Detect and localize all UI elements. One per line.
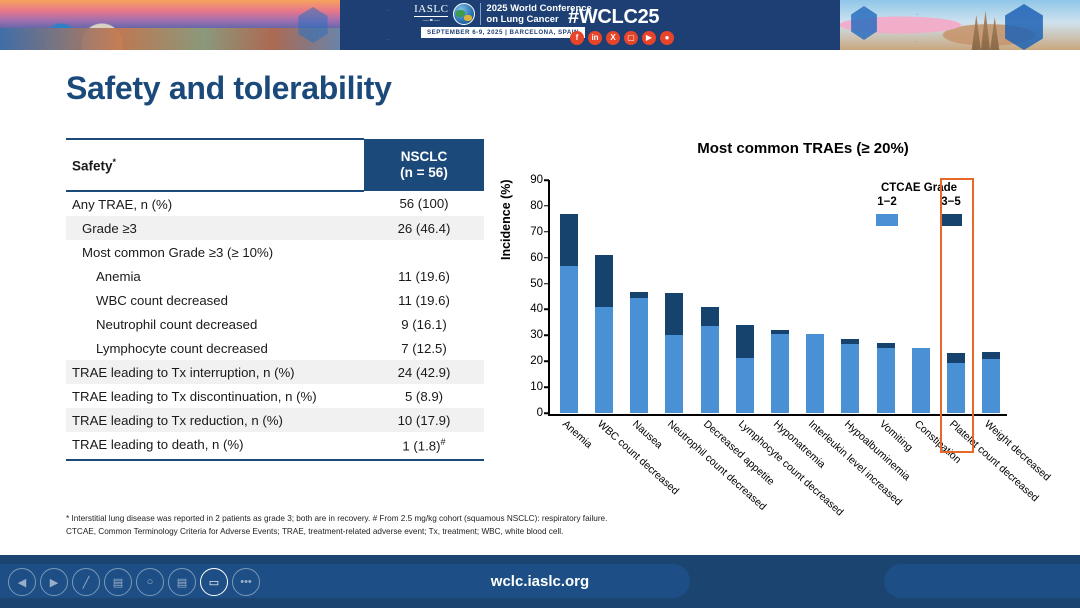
safety-table-wrapper: Safety* NSCLC (n = 56) Any TRAE, n (%)56… xyxy=(66,138,484,461)
table-row: WBC count decreased11 (19.6) xyxy=(66,288,484,312)
chart-y-tick-label: 0 xyxy=(537,407,543,419)
chart-bar-segment-grade-1-2 xyxy=(841,344,859,413)
table-cell-value xyxy=(364,240,484,264)
youtube-icon[interactable]: ▶ xyxy=(642,31,656,45)
table-cell-value: 10 (17.9) xyxy=(364,408,484,432)
footer-url: wclc.iaslc.org xyxy=(0,555,1080,608)
footnote-marker: # xyxy=(441,437,446,447)
table-body: Any TRAE, n (%)56 (100)Grade ≥326 (46.4)… xyxy=(66,191,484,460)
table-cell-value: 7 (12.5) xyxy=(364,336,484,360)
chart-y-tick-label: 90 xyxy=(530,174,543,186)
table-row: Any TRAE, n (%)56 (100) xyxy=(66,191,484,216)
chart-y-axis-label: Incidence (%) xyxy=(499,179,513,260)
chart-y-tick-label: 70 xyxy=(530,226,543,238)
social-media-icons: f in X ▢ ▶ ● xyxy=(570,31,674,45)
table-cell-value: 9 (16.1) xyxy=(364,312,484,336)
table-cell-value: 56 (100) xyxy=(364,191,484,216)
table-row: TRAE leading to death, n (%)1 (1.8)# xyxy=(66,432,484,460)
chart-bar-segment-grade-3-5 xyxy=(665,293,683,336)
chart-bar[interactable] xyxy=(877,343,895,413)
table-cell-label: TRAE leading to Tx interruption, n (%) xyxy=(66,360,364,384)
conference-date-location: SEPTEMBER 6-9, 2025 | BARCELONA, SPAIN xyxy=(421,27,585,38)
chart-y-tick-label: 50 xyxy=(530,278,543,290)
table-cell-label: WBC count decreased xyxy=(66,288,364,312)
table-cell-value: 26 (46.4) xyxy=(364,216,484,240)
table-header-nsclc-line1: NSCLC xyxy=(370,149,478,165)
chart-y-tick-label: 60 xyxy=(530,252,543,264)
chart-y-tick-mark xyxy=(544,257,549,259)
chart-y-tick-mark xyxy=(544,335,549,337)
table-header-nsclc: NSCLC (n = 56) xyxy=(364,139,484,191)
chart-y-tick-label: 20 xyxy=(530,355,543,367)
table-header-safety-label: Safety xyxy=(72,158,113,173)
chart-bar-segment-grade-3-5 xyxy=(701,307,719,326)
table-row: Most common Grade ≥3 (≥ 10%) xyxy=(66,240,484,264)
chart-title: Most common TRAEs (≥ 20%) xyxy=(653,140,953,157)
chart-bar[interactable] xyxy=(982,352,1000,413)
chart-bar[interactable] xyxy=(595,255,613,413)
chart-bar[interactable] xyxy=(736,325,754,413)
wechat-icon[interactable]: ● xyxy=(660,31,674,45)
chart-x-axis-line xyxy=(548,414,1007,416)
iaslc-wordmark: IASLC —⚭— xyxy=(414,4,448,24)
table-row: TRAE leading to Tx reduction, n (%)10 (1… xyxy=(66,408,484,432)
traes-bar-chart: Most common TRAEs (≥ 20%) Incidence (%) … xyxy=(503,130,1023,530)
table-cell-label: Neutrophil count decreased xyxy=(66,312,364,336)
table-cell-value: 11 (19.6) xyxy=(364,264,484,288)
slide-footnotes: * Interstitial lung disease was reported… xyxy=(66,512,1006,538)
legend-entry-grade-1-2: 1−2 xyxy=(860,196,914,226)
instagram-icon[interactable]: ▢ xyxy=(624,31,638,45)
legend-swatch-grade-1-2 xyxy=(876,214,898,226)
chart-y-tick-mark xyxy=(544,179,549,181)
table-cell-value: 5 (8.9) xyxy=(364,384,484,408)
table-cell-label: Lymphocyte count decreased xyxy=(66,336,364,360)
chart-bar[interactable] xyxy=(841,339,859,413)
iaslc-abbr: IASLC xyxy=(414,3,448,15)
chart-y-tick-mark xyxy=(544,386,549,388)
chart-x-tick-label: Anemia xyxy=(560,418,594,451)
table-cell-label: TRAE leading to death, n (%) xyxy=(66,432,364,460)
page-title: Safety and tolerability xyxy=(66,70,392,107)
chart-bar-segment-grade-1-2 xyxy=(560,266,578,413)
chart-y-tick-mark xyxy=(544,309,549,311)
chart-bar[interactable] xyxy=(630,292,648,413)
chart-y-tick-label: 30 xyxy=(530,329,543,341)
legend-label-grade-1-2: 1−2 xyxy=(877,196,897,208)
table-cell-value: 11 (19.6) xyxy=(364,288,484,312)
chart-bar-segment-grade-1-2 xyxy=(877,348,895,413)
chart-bar-segment-grade-3-5 xyxy=(736,325,754,358)
facebook-icon[interactable]: f xyxy=(570,31,584,45)
x-twitter-icon[interactable]: X xyxy=(606,31,620,45)
table-cell-label: TRAE leading to Tx reduction, n (%) xyxy=(66,408,364,432)
table-header-safety: Safety* xyxy=(66,139,364,191)
chart-bar-segment-grade-1-2 xyxy=(701,326,719,413)
chart-bar-segment-grade-3-5 xyxy=(560,214,578,266)
chart-bar-segment-grade-1-2 xyxy=(912,348,930,413)
table-cell-label: Most common Grade ≥3 (≥ 10%) xyxy=(66,240,364,264)
linkedin-icon[interactable]: in xyxy=(588,31,602,45)
chart-bar-segment-grade-1-2 xyxy=(630,298,648,413)
footnote-line-2: CTCAE, Common Terminology Criteria for A… xyxy=(66,525,1006,538)
table-cell-label: TRAE leading to Tx discontinuation, n (%… xyxy=(66,384,364,408)
table-cell-label: Grade ≥3 xyxy=(66,216,364,240)
table-head: Safety* NSCLC (n = 56) xyxy=(66,139,484,191)
chart-bar-segment-grade-1-2 xyxy=(982,359,1000,413)
table-header-safety-footnote-marker: * xyxy=(113,157,117,167)
table-header-row: Safety* NSCLC (n = 56) xyxy=(66,139,484,191)
table-row: Lymphocyte count decreased7 (12.5) xyxy=(66,336,484,360)
chart-bar[interactable] xyxy=(806,334,824,413)
chart-bar-segment-grade-1-2 xyxy=(736,358,754,413)
table-row: TRAE leading to Tx discontinuation, n (%… xyxy=(66,384,484,408)
table-row: Grade ≥326 (46.4) xyxy=(66,216,484,240)
table-cell-value: 1 (1.8)# xyxy=(364,432,484,460)
table-header-nsclc-line2: (n = 56) xyxy=(370,165,478,181)
chart-bar[interactable] xyxy=(665,293,683,413)
chart-y-tick-mark xyxy=(544,360,549,362)
conference-banner: IASLC —⚭— 2025 World Conference on Lung … xyxy=(0,0,1080,50)
chart-y-tick-mark xyxy=(544,205,549,207)
chart-y-tick-label: 10 xyxy=(530,381,543,393)
table-row: Anemia11 (19.6) xyxy=(66,264,484,288)
footnote-line-1: * Interstitial lung disease was reported… xyxy=(66,512,1006,525)
chart-y-tick-mark xyxy=(544,231,549,233)
chart-bar-segment-grade-1-2 xyxy=(771,334,789,413)
chart-bar-segment-grade-1-2 xyxy=(595,307,613,413)
chart-x-tick-label: Hypoalbuminemia xyxy=(842,418,912,483)
chart-y-tick-label: 40 xyxy=(530,303,543,315)
chart-bar[interactable] xyxy=(912,348,930,413)
chart-bar-segment-grade-3-5 xyxy=(595,255,613,307)
iaslc-rule: —⚭— xyxy=(414,16,448,24)
chart-highlight-box xyxy=(940,178,974,453)
slide-content: Safety and tolerability Safety* NSCLC (n… xyxy=(0,50,1080,555)
logo-divider xyxy=(480,3,481,25)
globe-icon xyxy=(453,3,475,25)
chart-y-tick-label: 80 xyxy=(530,200,543,212)
chart-y-tick-mark xyxy=(544,283,549,285)
banner-photo-barcelona-skyline xyxy=(0,0,340,50)
chart-bar[interactable] xyxy=(771,330,789,413)
table-cell-value: 24 (42.9) xyxy=(364,360,484,384)
chart-bar-segment-grade-1-2 xyxy=(665,335,683,413)
chart-bar[interactable] xyxy=(701,307,719,413)
table-row: TRAE leading to Tx interruption, n (%)24… xyxy=(66,360,484,384)
conference-hashtag: #WCLC25 xyxy=(568,6,659,29)
table-cell-label: Any TRAE, n (%) xyxy=(66,191,364,216)
table-row: Neutrophil count decreased9 (16.1) xyxy=(66,312,484,336)
safety-table: Safety* NSCLC (n = 56) Any TRAE, n (%)56… xyxy=(66,138,484,461)
chart-bar[interactable] xyxy=(560,214,578,413)
chart-bar-segment-grade-1-2 xyxy=(806,334,824,413)
table-cell-label: Anemia xyxy=(66,264,364,288)
chart-y-tick-mark xyxy=(544,412,549,414)
